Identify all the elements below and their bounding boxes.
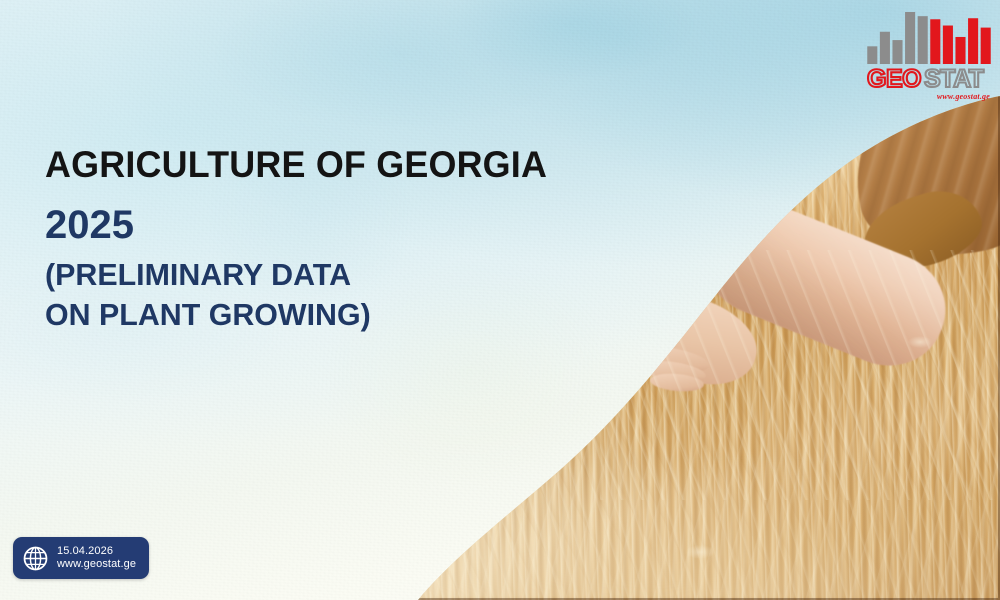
logo-bar: [918, 16, 928, 64]
logo-text-geo: GEO: [867, 66, 921, 92]
date-url-badge[interactable]: 15.04.2026 www.geostat.ge: [13, 537, 149, 579]
logo-bar: [905, 12, 915, 64]
page-title: AGRICULTURE OF GEORGIA: [45, 146, 569, 183]
title-subtitle-line-2: ON PLANT GROWING): [45, 295, 574, 335]
title-subtitle-line-1: (PRELIMINARY DATA: [45, 255, 574, 295]
title-year: 2025: [45, 205, 585, 245]
logo-bar: [880, 32, 890, 64]
logo-bar-chart-icon: [866, 12, 992, 64]
title-subtitle: (PRELIMINARY DATA ON PLANT GROWING): [45, 255, 574, 336]
logo-bar: [892, 40, 902, 64]
logo-bar: [968, 18, 978, 64]
logo-bar: [867, 46, 877, 64]
logo-bar: [930, 19, 940, 64]
logo-bar: [943, 26, 953, 64]
logo-text-stat: STAT: [924, 66, 984, 92]
heading-block: AGRICULTURE OF GEORGIA 2025 (PRELIMINARY…: [45, 146, 585, 336]
badge-url: www.geostat.ge: [57, 558, 136, 571]
geostat-logo[interactable]: GEO STAT www.geostat.ge: [866, 12, 992, 106]
logo-bar: [955, 37, 965, 64]
logo-bar: [981, 28, 991, 64]
logo-wordmark: GEO STAT: [866, 66, 992, 92]
cover-page: AGRICULTURE OF GEORGIA 2025 (PRELIMINARY…: [0, 0, 1000, 600]
globe-icon: [22, 545, 49, 572]
logo-url: www.geostat.ge: [937, 92, 990, 101]
badge-date: 15.04.2026: [57, 545, 136, 558]
badge-text: 15.04.2026 www.geostat.ge: [57, 545, 136, 572]
